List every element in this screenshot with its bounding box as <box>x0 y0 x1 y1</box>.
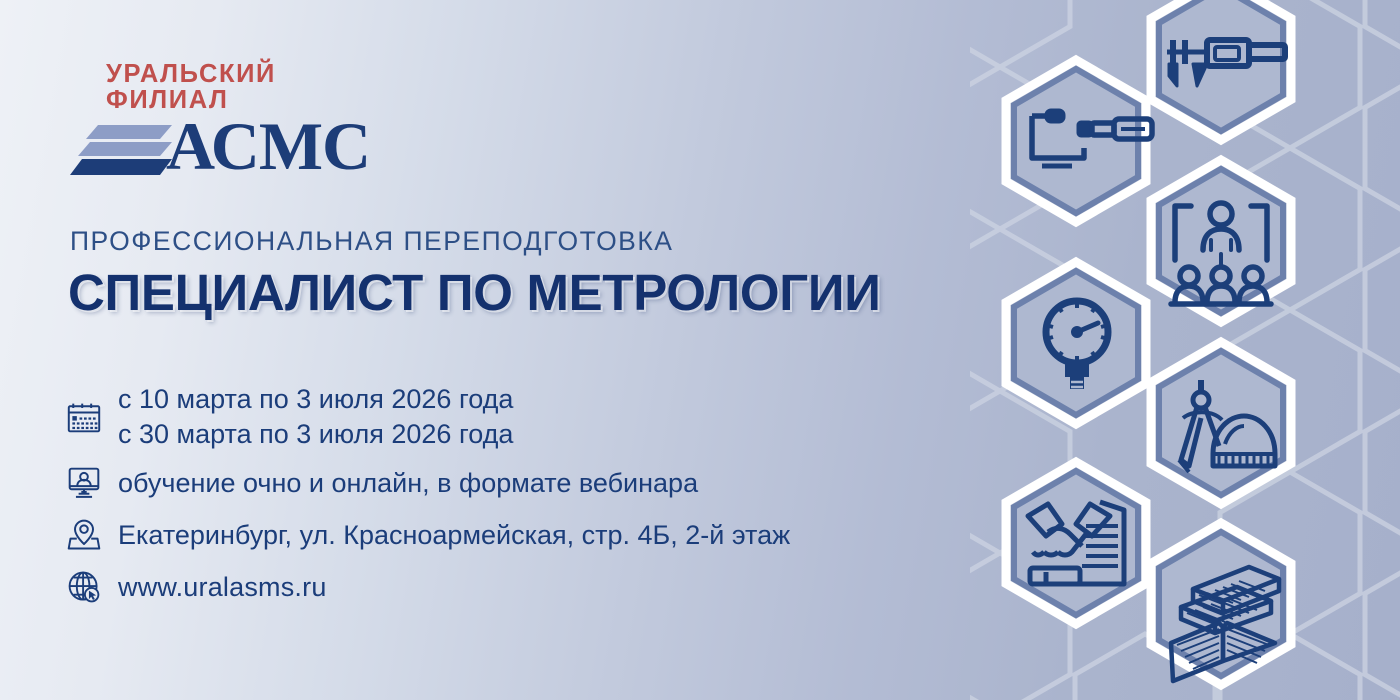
hexagon-tile-training-team <box>1151 160 1291 322</box>
info-list: с 10 марта по 3 июля 2026 года с 30 март… <box>66 382 966 613</box>
page-title: СПЕЦИАЛИСТ ПО МЕТРОЛОГИИ <box>68 264 881 323</box>
hexagon-tile-handshake-document <box>1006 462 1146 624</box>
calendar-icon <box>66 382 118 452</box>
info-row-website[interactable]: www.uralasms.ru <box>66 564 966 610</box>
promo-banner: УРАЛЬСКИЙ ФИЛИАЛ АСМС ПРОФЕССИОНАЛЬНАЯ П… <box>0 0 1400 700</box>
hexagon-tile-pressure-gauge <box>1006 262 1146 424</box>
logo-top-line: УРАЛЬСКИЙ ФИЛИАЛ <box>106 62 398 113</box>
date-line-1: с 10 марта по 3 июля 2026 года <box>118 382 513 417</box>
stacked-books-mark-icon <box>68 123 176 179</box>
hexagon-tile-micrometer <box>1006 60 1152 222</box>
address-text: Екатеринбург, ул. Красноармейская, стр. … <box>118 518 790 553</box>
hexagon-tile-caliper <box>1151 0 1291 140</box>
format-text: обучение очно и онлайн, в формате вебина… <box>118 466 698 501</box>
hexagon-tile-books <box>1151 523 1291 685</box>
globe-cursor-icon <box>66 564 118 610</box>
hexagon-background-pattern <box>970 0 1400 700</box>
info-row-dates: с 10 марта по 3 июля 2026 года с 30 март… <box>66 382 966 452</box>
hexagon-tile-compass-protractor <box>1151 342 1291 504</box>
map-pin-icon <box>66 512 118 558</box>
date-line-2: с 30 марта по 3 июля 2026 года <box>118 417 513 452</box>
page-kicker: ПРОФЕССИОНАЛЬНАЯ ПЕРЕПОДГОТОВКА <box>70 226 673 257</box>
info-row-format: обучение очно и онлайн, в формате вебина… <box>66 460 966 506</box>
website-text[interactable]: www.uralasms.ru <box>118 570 327 605</box>
info-row-address: Екатеринбург, ул. Красноармейская, стр. … <box>66 512 966 558</box>
logo[interactable]: УРАЛЬСКИЙ ФИЛИАЛ АСМС <box>68 62 398 162</box>
logo-wordmark: АСМС <box>166 112 370 180</box>
monitor-person-icon <box>66 460 118 506</box>
hexagon-icon-tiles <box>970 0 1400 700</box>
